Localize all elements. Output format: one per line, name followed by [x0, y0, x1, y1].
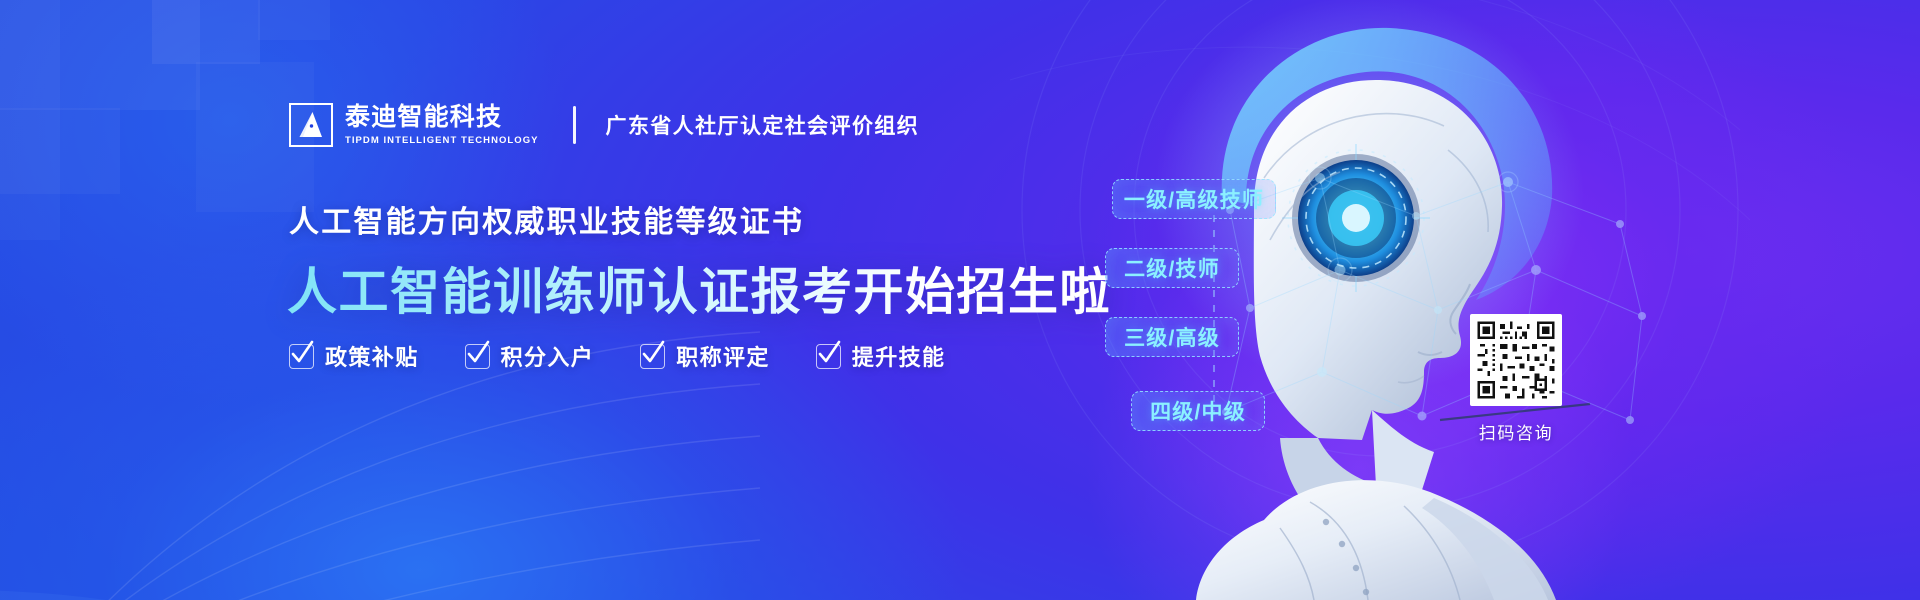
qr-contact-block[interactable]: 扫码咨询 [1470, 314, 1562, 444]
background-glow-left [0, 0, 680, 500]
feature-label: 政策补贴 [325, 340, 419, 372]
promo-banner: 泰迪智能科技 TIPDM INTELLIGENT TECHNOLOGY 广东省人… [0, 0, 1920, 600]
level-badge-label: 一级/高级技师 [1124, 184, 1264, 214]
qr-code-icon[interactable] [1470, 314, 1562, 406]
check-icon [465, 344, 490, 369]
decor-rectangle [152, 0, 260, 64]
brand-header: 泰迪智能科技 TIPDM INTELLIGENT TECHNOLOGY 广东省人… [289, 103, 919, 147]
feature-label: 积分入户 [501, 340, 595, 372]
level-badge-4[interactable]: 四级/中级 [1131, 391, 1265, 431]
qr-caption-label: 扫码咨询 [1479, 419, 1553, 444]
brand-name-cn: 泰迪智能科技 [345, 104, 539, 131]
decor-rectangle [0, 108, 120, 194]
level-badge-3[interactable]: 三级/高级 [1105, 317, 1239, 357]
robot-illustration [1104, 0, 1724, 600]
level-connector-line [1213, 215, 1215, 415]
header-divider [573, 106, 576, 144]
background-glow-violet [980, 120, 1740, 600]
check-icon [640, 344, 665, 369]
hero-subtitle: 人工智能方向权威职业技能等级证书 [289, 197, 804, 241]
hero-headline: 人工智能训练师认证报考开始招生啦 [287, 252, 1111, 324]
level-badge-label: 四级/中级 [1150, 396, 1246, 426]
feature-item[interactable]: 积分入户 [465, 340, 595, 372]
check-icon [289, 344, 314, 369]
decor-arc-lines [0, 280, 760, 600]
feature-label: 职称评定 [676, 340, 770, 372]
decor-rectangle [0, 0, 60, 240]
decor-rectangle [258, 0, 330, 40]
feature-item[interactable]: 政策补贴 [289, 340, 419, 372]
decor-rectangle [0, 0, 200, 110]
level-badge-label: 二级/技师 [1124, 253, 1220, 283]
brand-logo[interactable]: 泰迪智能科技 TIPDM INTELLIGENT TECHNOLOGY [289, 103, 539, 147]
feature-item[interactable]: 提升技能 [816, 340, 946, 372]
org-endorsement-label: 广东省人社厅认定社会评价组织 [606, 110, 920, 140]
level-badge-2[interactable]: 二级/技师 [1105, 248, 1239, 288]
brand-name-en: TIPDM INTELLIGENT TECHNOLOGY [345, 135, 539, 146]
feature-list: 政策补贴 积分入户 职称评定 提升技能 [289, 340, 945, 372]
brand-logo-text: 泰迪智能科技 TIPDM INTELLIGENT TECHNOLOGY [345, 104, 539, 146]
feature-item[interactable]: 职称评定 [640, 340, 770, 372]
level-badge-1[interactable]: 一级/高级技师 [1112, 179, 1276, 219]
tipdm-peak-logo-icon [289, 103, 333, 147]
level-badge-label: 三级/高级 [1124, 322, 1220, 352]
check-icon [816, 344, 841, 369]
feature-label: 提升技能 [852, 340, 946, 372]
